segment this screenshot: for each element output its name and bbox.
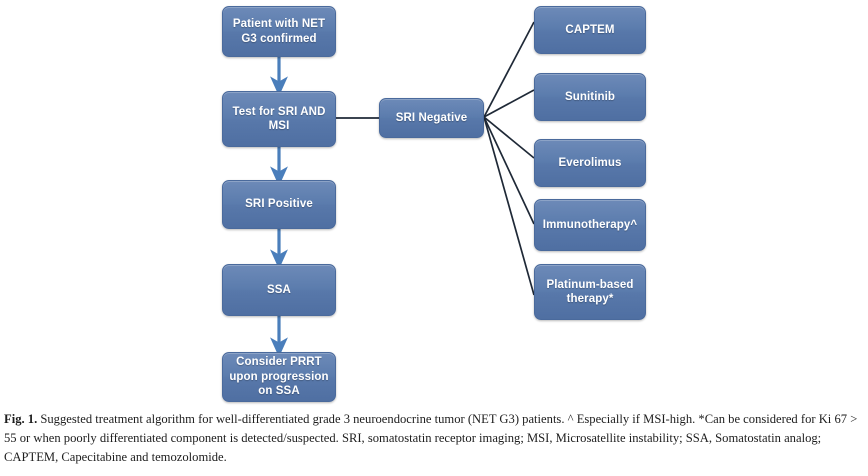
node-label: Platinum-based therapy* [546, 278, 633, 307]
node-label: Consider PRRT upon progression on SSA [229, 355, 328, 398]
node-label: Immunotherapy^ [543, 218, 637, 232]
node-platinum-based-therapy[interactable]: Platinum-based therapy* [534, 264, 646, 320]
node-label: Patient with NET G3 confirmed [233, 17, 325, 46]
connector-lines [0, 0, 868, 406]
figure-caption: Fig. 1. Suggested treatment algorithm fo… [4, 410, 864, 467]
node-patient-net-g3[interactable]: Patient with NET G3 confirmed [222, 6, 336, 57]
figure-container: Patient with NET G3 confirmed Test for S… [0, 0, 868, 476]
node-test-sri-msi[interactable]: Test for SRI AND MSI [222, 91, 336, 147]
node-everolimus[interactable]: Everolimus [534, 139, 646, 187]
node-sunitinib[interactable]: Sunitinib [534, 73, 646, 121]
node-label: Sunitinib [565, 90, 615, 104]
fan-sri-negative-to-therapies [484, 22, 534, 295]
node-label: CAPTEM [565, 23, 614, 37]
node-sri-positive[interactable]: SRI Positive [222, 180, 336, 229]
figure-caption-label: Fig. 1. [4, 412, 37, 426]
node-sri-negative[interactable]: SRI Negative [379, 98, 484, 138]
node-label: SSA [267, 283, 291, 297]
node-consider-prrt[interactable]: Consider PRRT upon progression on SSA [222, 352, 336, 402]
treatment-algorithm-diagram: Patient with NET G3 confirmed Test for S… [0, 0, 868, 406]
fan-line-everolimus [484, 117, 534, 158]
node-immunotherapy[interactable]: Immunotherapy^ [534, 199, 646, 251]
node-label: SRI Negative [396, 111, 468, 125]
node-label: SRI Positive [245, 197, 313, 211]
node-label: Everolimus [559, 156, 622, 170]
figure-caption-text: Suggested treatment algorithm for well-d… [4, 412, 857, 464]
node-ssa[interactable]: SSA [222, 264, 336, 316]
node-captem[interactable]: CAPTEM [534, 6, 646, 54]
node-label: Test for SRI AND MSI [233, 105, 326, 134]
